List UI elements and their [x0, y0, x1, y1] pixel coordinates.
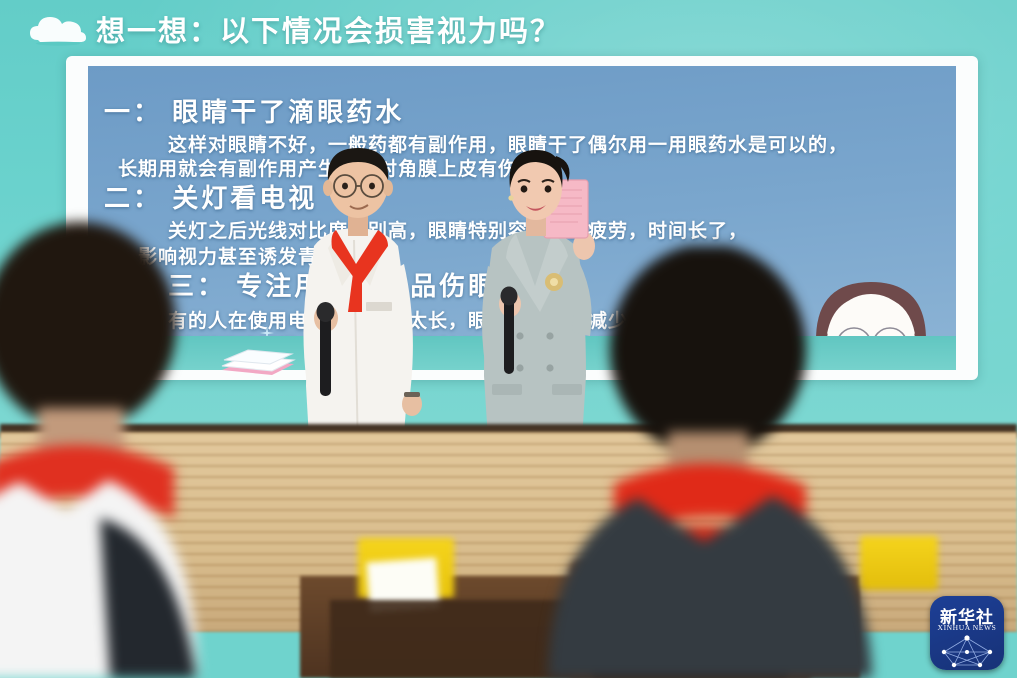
sparkle-icon	[260, 326, 274, 336]
slide-heading-2: 二： 关灯看电视	[104, 178, 317, 215]
page-title: 想一想：以下情况会损害视力吗？	[96, 8, 561, 50]
screenshot-stage: 想一想：以下情况会损害视力吗？ 一： 眼睛干了滴眼药水 这样对眼睛不好，一般药都…	[0, 0, 1017, 678]
xinhua-news-logo: 新华社 XINHUA NEWS	[930, 596, 1004, 670]
network-graphic-icon	[934, 634, 1000, 668]
slide-heading-1: 一： 眼睛干了滴眼药水	[104, 92, 404, 129]
audience-student-right	[528, 246, 908, 678]
watermark-english-text: XINHUA NEWS	[930, 623, 1004, 632]
cloud-icon	[28, 14, 88, 46]
audience-student-left	[0, 218, 260, 678]
